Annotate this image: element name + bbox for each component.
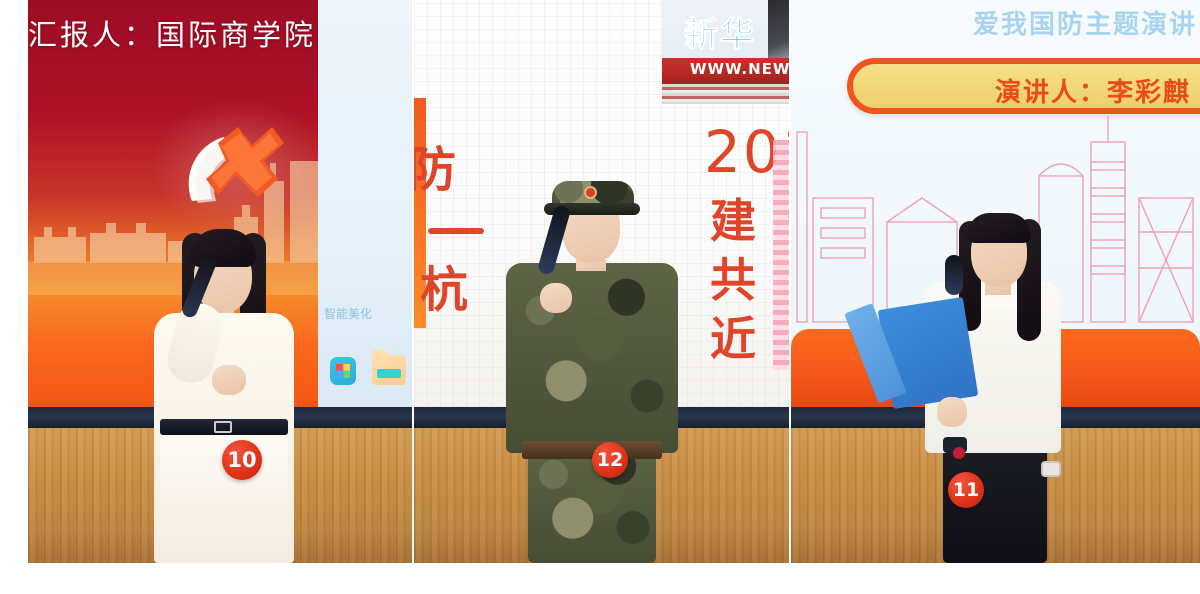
panel-1-red-party-slide: 汇报人：国际商学院 王云娇 智能美化: [28, 0, 412, 563]
slide-title-theme: 爱我国防主题演讲: [973, 4, 1197, 41]
contestant-11-figure: [891, 173, 1086, 563]
fringe: [190, 229, 256, 267]
mic-stand-knob: [953, 447, 965, 459]
secondary-screen: 智能美化: [318, 0, 412, 407]
cap-badge-icon: [584, 186, 597, 199]
left-fragment-char-2: 杭: [420, 250, 468, 320]
microphone-icon: [945, 255, 963, 295]
office-app-icon[interactable]: [330, 357, 356, 385]
hand: [212, 365, 246, 395]
calligraphy-char-5: 近: [710, 303, 756, 369]
panel-3-national-defense-slide: 爱我国防主题演讲 演讲人：李彩麒: [791, 0, 1200, 563]
panel-divider-1: [412, 0, 414, 563]
fringe: [967, 213, 1031, 243]
uniform-jacket: [506, 263, 678, 453]
contestant-12-figure: [484, 133, 699, 563]
hand: [937, 397, 967, 427]
tv-photo-thumbnail: [768, 0, 789, 58]
tv-stripes: [662, 84, 789, 104]
contestant-10-figure: [136, 181, 311, 563]
contestant-number-badge-10: 10: [222, 440, 262, 480]
xinhua-tv-graphic: 新华 WWW.NEW: [662, 0, 789, 104]
contestant-number-badge-12: 12: [592, 442, 628, 478]
calligraphy-char-3: 共: [710, 244, 756, 310]
panel-2-xinhua-slide: 新华 WWW.NEW 2014 建 省 共 中 近 平 防 杭: [414, 0, 789, 563]
belt-buckle: [214, 421, 232, 433]
contestant-number-badge-11: 11: [948, 472, 984, 508]
hand: [540, 283, 572, 313]
folder-icon[interactable]: [372, 355, 406, 385]
skirt: [160, 423, 288, 563]
calligraphy-char-1: 建: [710, 185, 756, 251]
right-poster-sliver: [773, 140, 789, 370]
wristwatch: [1041, 461, 1061, 477]
photo-strip-stage: 汇报人：国际商学院 王云娇 智能美化: [0, 0, 1200, 594]
panel-divider-2: [789, 0, 791, 563]
red-dash-mark: [428, 228, 484, 234]
beautify-label: 智能美化: [324, 305, 412, 322]
tv-url-text: WWW.NEW: [690, 60, 789, 78]
left-fragment-char-1: 防: [414, 130, 456, 200]
blue-folder: [878, 297, 979, 409]
bottom-white-margin: [0, 563, 1200, 594]
xinhua-logo-text: 新华: [684, 18, 756, 52]
